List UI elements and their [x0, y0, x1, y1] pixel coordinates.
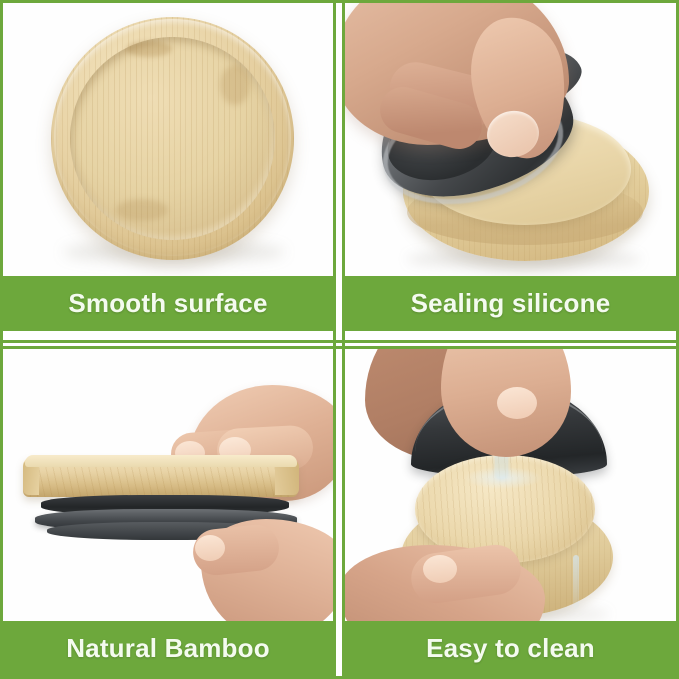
divider-horizontal-top: [0, 340, 679, 343]
feature-panel-natural-bamboo: Natural Bamboo: [3, 349, 333, 676]
bamboo-lid-top-edge: [25, 455, 297, 467]
bamboo-node-mark: [126, 41, 172, 57]
caption-label: Natural Bamboo: [66, 633, 270, 664]
thumbnail: [497, 387, 537, 419]
product-photo-natural-bamboo: [3, 349, 333, 621]
caption-easy-to-clean: Easy to clean: [345, 621, 676, 676]
caption-sealing-silicone: Sealing silicone: [345, 276, 676, 331]
bamboo-node-mark: [220, 65, 250, 105]
feature-panel-smooth-surface: Smooth surface: [3, 3, 333, 340]
bamboo-node-mark: [116, 199, 168, 221]
divider-horizontal-bottom: [0, 346, 679, 349]
feature-panel-easy-to-clean: Easy to clean: [345, 349, 676, 676]
bamboo-lid-outer-rim: [51, 17, 294, 260]
caption-smooth-surface: Smooth surface: [3, 276, 333, 331]
feature-panel-sealing-silicone: Sealing silicone: [345, 3, 676, 340]
frame-border-top: [0, 0, 679, 3]
water-drip: [573, 555, 579, 609]
caption-label: Easy to clean: [426, 633, 595, 664]
product-feature-grid: Smooth surface Sealing silicone: [0, 0, 679, 679]
product-photo-smooth-surface: [3, 3, 333, 276]
caption-label: Smooth surface: [68, 288, 267, 319]
caption-label: Sealing silicone: [411, 288, 611, 319]
thumbnail: [195, 535, 225, 561]
caption-natural-bamboo: Natural Bamboo: [3, 621, 333, 676]
product-photo-easy-to-clean: [345, 349, 676, 621]
thumbnail: [423, 555, 457, 583]
bamboo-lid-inner-recess: [70, 37, 275, 240]
product-photo-sealing-silicone: [345, 3, 676, 276]
inner-wood-grain-texture: [70, 37, 275, 240]
